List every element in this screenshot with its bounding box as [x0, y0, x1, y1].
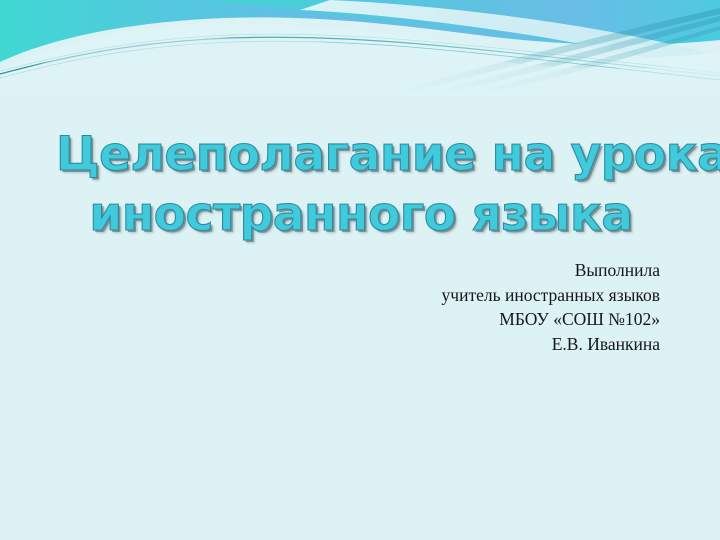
wave-banner-svg: [0, 0, 720, 96]
slide-subtitle: Выполнила учитель иностранных языков МБО…: [300, 258, 660, 356]
slide-title: Целеполагание на уроках иностранного язы…: [56, 126, 666, 244]
title-line-1: Целеполагание на уроках: [56, 126, 666, 184]
subtitle-line-school: МБОУ «СОШ №102»: [300, 307, 660, 332]
title-line-2: иностранного языка: [56, 186, 666, 244]
subtitle-line-prepared-by: Выполнила: [300, 258, 660, 283]
subtitle-line-role: учитель иностранных языков: [300, 283, 660, 308]
wave-banner-decoration: [0, 0, 720, 96]
subtitle-line-author-name: Е.В. Иванкина: [300, 332, 660, 357]
presentation-slide: Целеполагание на уроках иностранного язы…: [0, 0, 720, 540]
